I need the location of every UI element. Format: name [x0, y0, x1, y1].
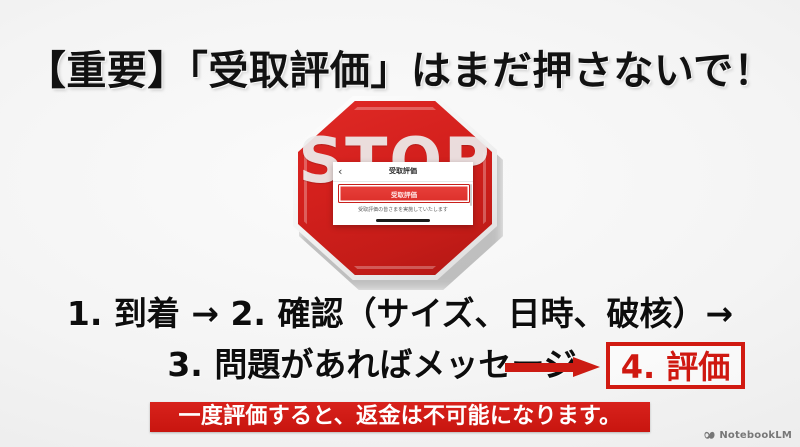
card-note-text: 受取評価の皆さまを実施していたします [333, 206, 473, 213]
step-line-1: 1. 到着 → 2. 確認（サイズ、日時、破核）→ [0, 288, 800, 340]
step4-label: 4. 評価 [610, 349, 741, 385]
home-indicator-bar [376, 219, 430, 222]
card-header-title: 受取評価 [333, 166, 473, 176]
warning-banner-text: 一度評価すると、返金は不可能になります。 [150, 402, 650, 432]
slide-canvas: 【重要】「受取評価」はまだ押さないで！ STOP ‹ 受取評価 受取評価 受取評… [0, 0, 800, 447]
receive-rating-button[interactable]: 受取評価 [338, 184, 470, 203]
card-scrollbar[interactable] [470, 184, 472, 206]
arrow-head [573, 357, 600, 377]
receive-rating-button-label: 受取評価 [339, 189, 469, 199]
notebooklm-watermark: NotebookLM [704, 430, 792, 441]
warning-banner: 一度評価すると、返金は不可能になります。 [150, 402, 650, 432]
notebooklm-watermark-label: NotebookLM [719, 430, 792, 441]
red-arrow-icon [505, 357, 601, 377]
step4-highlight-box: 4. 評価 [606, 342, 745, 389]
card-header: ‹ 受取評価 [333, 162, 473, 182]
notebooklm-logo-icon [704, 430, 715, 441]
phone-screenshot-card: ‹ 受取評価 受取評価 受取評価の皆さまを実施していたします [333, 162, 473, 225]
arrow-shaft [505, 363, 577, 372]
page-title: 【重要】「受取評価」はまだ押さないで！ [0, 38, 800, 96]
